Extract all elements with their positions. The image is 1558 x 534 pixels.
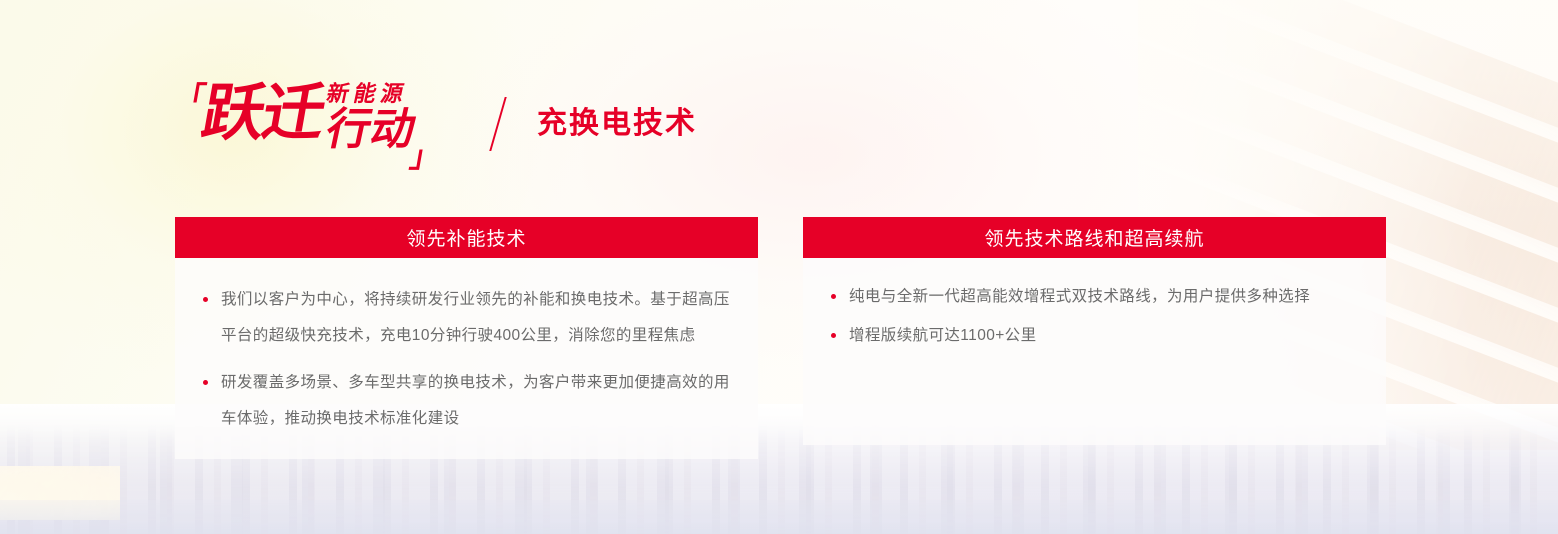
list-item-text: 增程版续航可达1100+公里 (849, 327, 1036, 344)
logo-secondary-stack: 新能源 行动 (327, 82, 415, 153)
card-range-tech-body: 纯电与全新一代超高能效增程式双技术路线，为用户提供多种选择 增程版续航可达110… (803, 258, 1386, 445)
feature-cards: 领先补能技术 我们以客户为中心，将持续研发行业领先的补能和换电技术。基于超高压平… (175, 217, 1386, 459)
list-item: 我们以客户为中心，将持续研发行业领先的补能和换电技术。基于超高压平台的超级快充技… (201, 282, 732, 353)
card-charging-tech-bullets: 我们以客户为中心，将持续研发行业领先的补能和换电技术。基于超高压平台的超级快充技… (201, 282, 732, 437)
background-building-top-fade (1138, 0, 1558, 230)
logo-sub-top-text: 新能源 (324, 82, 417, 106)
logo-bracket-open-icon: 「 (172, 84, 207, 114)
bullet-dot-icon (831, 333, 836, 338)
header-divider-slash (489, 97, 506, 151)
card-charging-tech-title: 领先补能技术 (175, 217, 758, 258)
logo-sub-bottom-text: 行动 (322, 107, 420, 153)
list-item-text: 纯电与全新一代超高能效增程式双技术路线，为用户提供多种选择 (849, 288, 1310, 305)
card-charging-tech-body: 我们以客户为中心，将持续研发行业领先的补能和换电技术。基于超高压平台的超级快充技… (175, 258, 758, 459)
bullet-dot-icon (203, 380, 208, 385)
logo-main-text: 跃迁 (198, 84, 329, 144)
card-range-tech: 领先技术路线和超高续航 纯电与全新一代超高能效增程式双技术路线，为用户提供多种选… (803, 217, 1386, 459)
banner-header: 「 跃迁 新能源 行动 「 充换电技术 (175, 78, 697, 170)
bullet-dot-icon (831, 294, 836, 299)
logo-bracket-close-icon: 「 (408, 138, 443, 168)
list-item: 研发覆盖多场景、多车型共享的换电技术，为客户带来更加便捷高效的用车体验，推动换电… (201, 365, 732, 436)
card-charging-tech: 领先补能技术 我们以客户为中心，将持续研发行业领先的补能和换电技术。基于超高压平… (175, 217, 758, 459)
list-item-text: 我们以客户为中心，将持续研发行业领先的补能和换电技术。基于超高压平台的超级快充技… (221, 291, 730, 344)
list-item: 增程版续航可达1100+公里 (829, 321, 1360, 350)
card-range-tech-title: 领先技术路线和超高续航 (803, 217, 1386, 258)
card-range-tech-bullets: 纯电与全新一代超高能效增程式双技术路线，为用户提供多种选择 增程版续航可达110… (829, 282, 1360, 351)
brand-logo: 「 跃迁 新能源 行动 「 (175, 78, 441, 170)
list-item-text: 研发覆盖多场景、多车型共享的换电技术，为客户带来更加便捷高效的用车体验，推动换电… (221, 374, 730, 427)
promo-banner: 「 跃迁 新能源 行动 「 充换电技术 领先补能技术 我们以客户为中心，将持续研… (0, 0, 1558, 534)
page-title: 充换电技术 (537, 109, 697, 139)
list-item: 纯电与全新一代超高能效增程式双技术路线，为用户提供多种选择 (829, 282, 1360, 311)
bullet-dot-icon (203, 297, 208, 302)
